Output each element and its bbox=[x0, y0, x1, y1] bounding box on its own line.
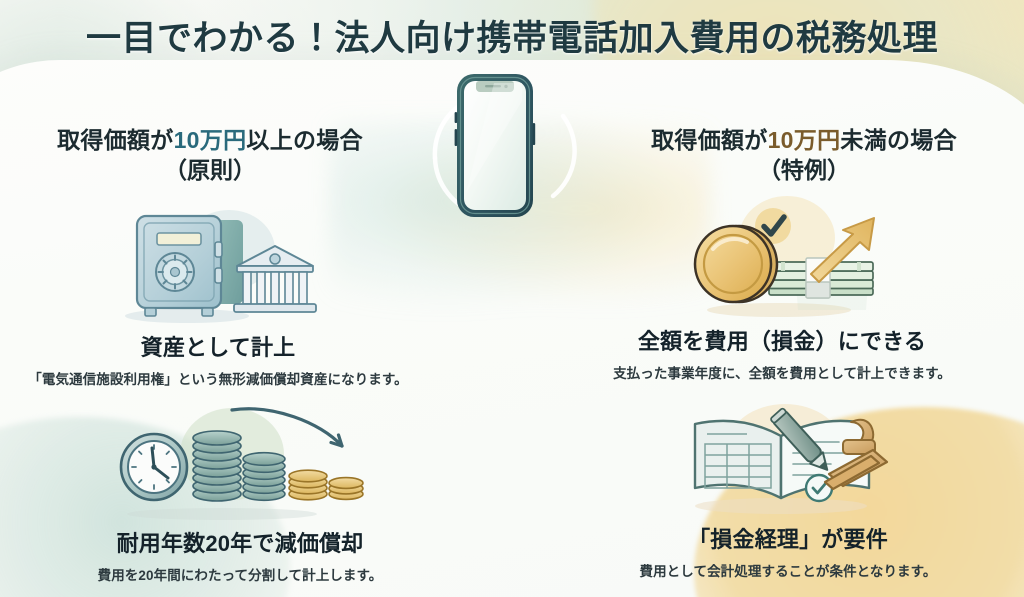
heading-prefix: 取得価額が bbox=[57, 127, 174, 153]
item-asset: 資産として計上 「電気通信施設利用権」という無形減価償却資産になります。 bbox=[8, 204, 428, 388]
item-heading: 資産として計上 bbox=[8, 330, 428, 362]
item-description: 支払った事業年度に、全額を費用として計上できます。 bbox=[572, 362, 992, 382]
item-depreciation: 耐用年数20年で減価償却 費用を20年間にわたって分割して計上します。 bbox=[30, 400, 450, 584]
coin-cash-arrow-check-icon bbox=[572, 198, 992, 318]
page-title: 一目でわかる！法人向け携帯電話加入費用の税務処理 bbox=[0, 10, 1024, 61]
heading-suffix: 未満の場合 bbox=[840, 127, 957, 153]
column-header-principle: 取得価額が10万円以上の場合 （原則） bbox=[10, 126, 410, 186]
item-heading: 耐用年数20年で減価償却 bbox=[30, 526, 450, 558]
column-header-exception: 取得価額が10万円未満の場合 （特例） bbox=[604, 126, 1004, 186]
clock-and-declining-coins-icon bbox=[30, 400, 450, 520]
heading-accent-amount: 10万円 bbox=[768, 127, 841, 153]
ledger-pen-stamp-icon bbox=[578, 396, 998, 516]
heading-prefix: 取得価額が bbox=[651, 127, 768, 153]
heading-subtitle: （原則） bbox=[10, 155, 410, 186]
heading-subtitle: （特例） bbox=[604, 155, 1004, 186]
item-expense: 全額を費用（損金）にできる 支払った事業年度に、全額を費用として計上できます。 bbox=[572, 198, 992, 382]
item-heading: 「損金経理」が要件 bbox=[578, 522, 998, 554]
item-description: 費用を20年間にわたって分割して計上します。 bbox=[30, 564, 450, 584]
item-description: 費用として会計処理することが条件となります。 bbox=[578, 560, 998, 580]
item-booking: 「損金経理」が要件 費用として会計処理することが条件となります。 bbox=[578, 396, 998, 580]
item-heading: 全額を費用（損金）にできる bbox=[572, 324, 992, 356]
item-description: 「電気通信施設利用権」という無形減価償却資産になります。 bbox=[8, 368, 428, 388]
heading-suffix: 以上の場合 bbox=[246, 127, 363, 153]
heading-accent-amount: 10万円 bbox=[174, 127, 247, 153]
safe-and-bank-icon bbox=[8, 204, 428, 324]
